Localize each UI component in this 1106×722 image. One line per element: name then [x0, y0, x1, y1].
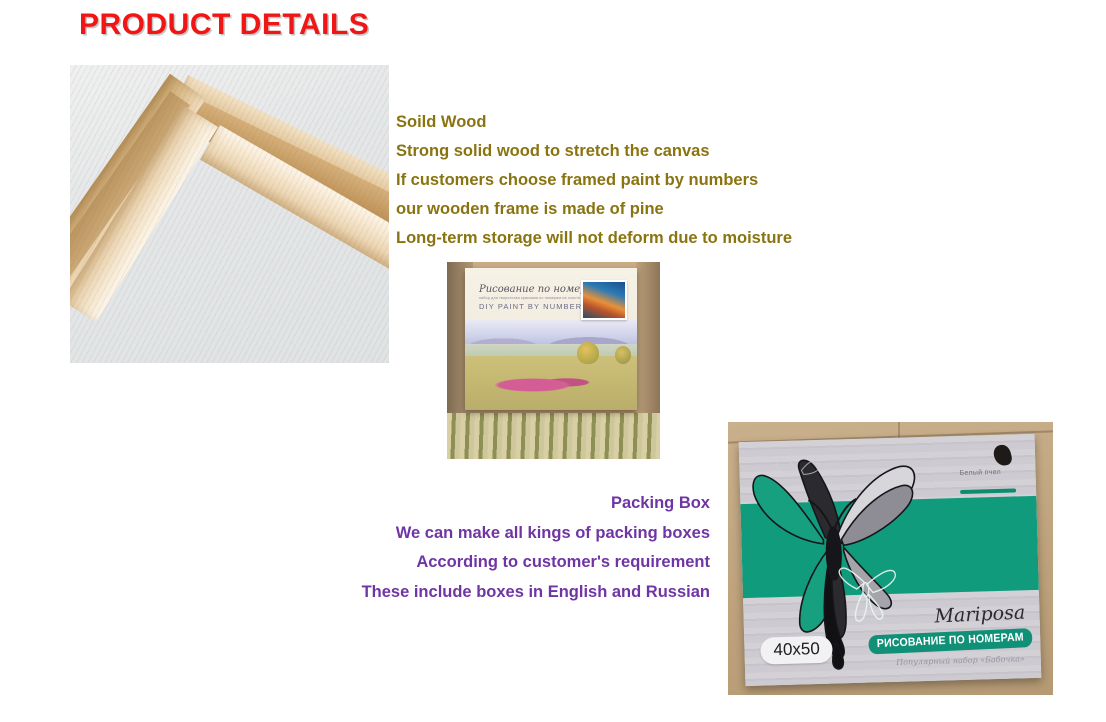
- boxed-canvas-photo: Рисование по номерам набор для творчеств…: [447, 262, 660, 459]
- packing-line-2: We can make all kings of packing boxes: [230, 519, 710, 549]
- butterfly-packing-box-photo: Белый пчел Mariposa РИСОВАНИЕ ПО НОМЕРАМ…: [728, 422, 1053, 695]
- stamp-artwork: [583, 282, 625, 318]
- canvas-label-english: DIY PAINT BY NUMBER: [479, 302, 582, 311]
- solid-wood-text-block: Soild Wood Strong solid wood to stretch …: [396, 108, 956, 253]
- box-brand-mark: Белый пчел: [959, 444, 1018, 494]
- canvas-board: Рисование по номерам набор для творчеств…: [465, 268, 637, 410]
- product-details-page: PRODUCT DETAILS Soild Wood Strong solid …: [0, 0, 1106, 722]
- wood-line-5: Long-term storage will not deform due to…: [396, 224, 956, 253]
- wood-line-1: Soild Wood: [396, 108, 956, 137]
- striped-floor: [447, 413, 660, 459]
- painting-tree-small: [615, 346, 631, 364]
- packing-line-3: According to customer's requirement: [230, 548, 710, 578]
- page-title: PRODUCT DETAILS: [79, 8, 369, 42]
- box-script-title: Mariposa: [934, 601, 1026, 627]
- painting-flower-patch: [473, 372, 603, 398]
- painting-tree-large: [577, 342, 599, 364]
- canvas-label-sub: набор для творчества красками по номерам…: [479, 296, 580, 300]
- wood-line-2: Strong solid wood to stretch the canvas: [396, 137, 956, 166]
- wood-line-4: our wooden frame is made of pine: [396, 195, 956, 224]
- box-front-face: Белый пчел Mariposa РИСОВАНИЕ ПО НОМЕРАМ…: [739, 434, 1042, 686]
- wooden-frame-photo: [70, 65, 389, 363]
- canvas-stamp-thumbnail: [581, 280, 627, 320]
- packing-line-1: Packing Box: [230, 489, 710, 519]
- packing-box-text-block: Packing Box We can make all kings of pac…: [230, 489, 710, 607]
- brand-text: Белый пчел: [960, 469, 1002, 477]
- packing-line-4: These include boxes in English and Russi…: [230, 578, 710, 608]
- brand-blob-icon: [992, 443, 1013, 467]
- box-size-badge: 40x50: [760, 636, 833, 665]
- wood-line-3: If customers choose framed paint by numb…: [396, 166, 956, 195]
